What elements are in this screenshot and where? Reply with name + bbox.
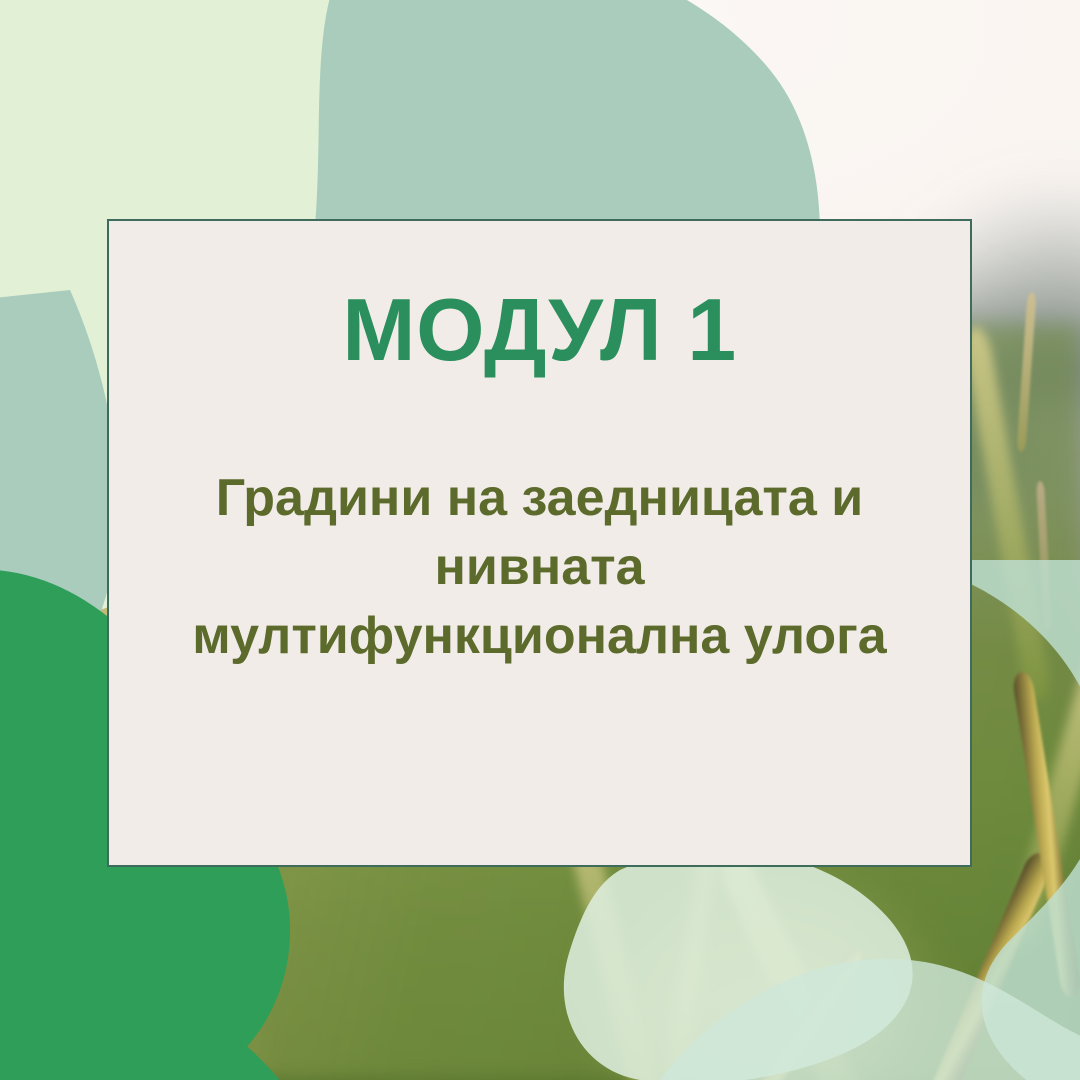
- module-title: МОДУЛ 1: [342, 283, 736, 376]
- title-slide: МОДУЛ 1 Градини на заедницата и нивната …: [0, 0, 1080, 1080]
- module-subtitle: Градини на заедницата и нивната мултифун…: [167, 464, 912, 670]
- content-card: МОДУЛ 1 Градини на заедницата и нивната …: [107, 219, 972, 867]
- bottom-left-emerald-tail: [0, 930, 320, 1080]
- bottom-right-mint-blob: [660, 880, 1080, 1080]
